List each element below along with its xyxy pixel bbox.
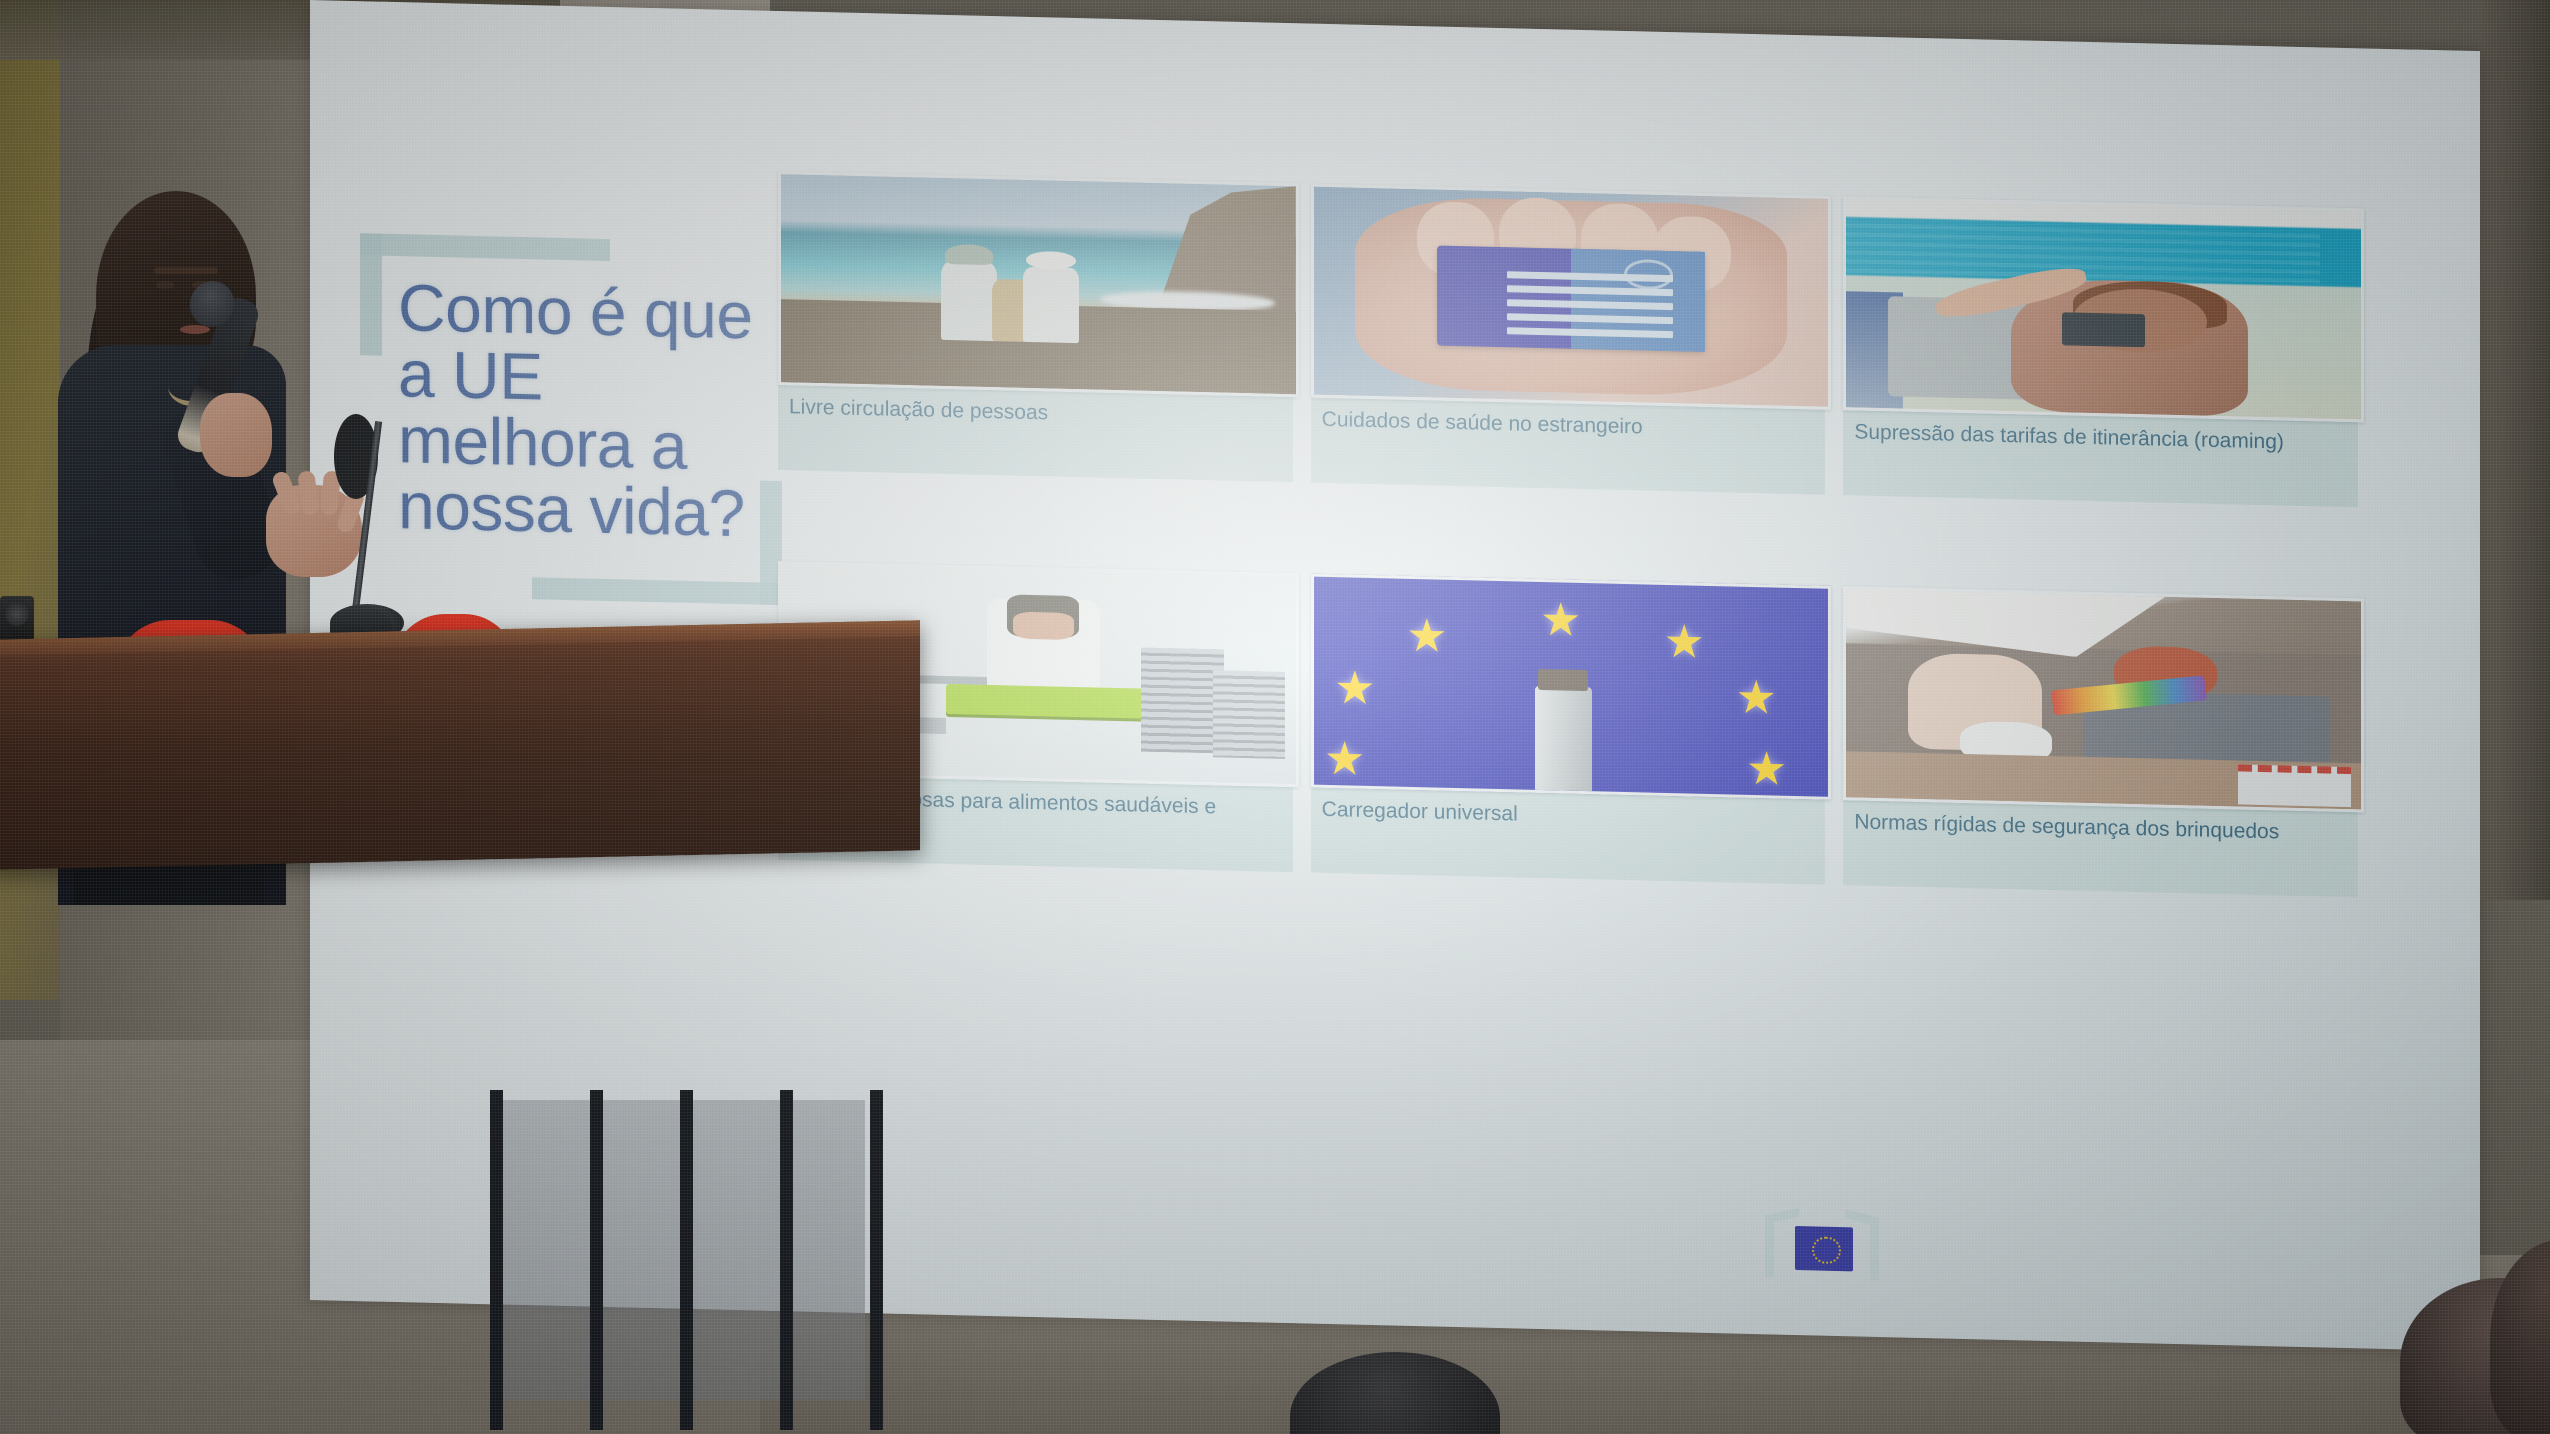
beach-couple-photo	[778, 171, 1299, 397]
european-union-flag-logo	[1765, 1209, 1885, 1290]
loudspeaker-unit	[0, 596, 34, 644]
slide-bracket-top-left-vertical	[360, 233, 382, 356]
benefit-caption: Normas rígidas de segurança dos brinqued…	[1843, 800, 2358, 897]
benefits-grid: Livre circulação de pessoas Cuidados de …	[778, 171, 2358, 968]
slide-title: Como é que a UE melhora a nossa vida?	[398, 274, 818, 548]
benefit-caption: Livre circulação de pessoas	[778, 385, 1293, 482]
european-health-insurance-card-photo	[1311, 184, 1832, 410]
wooden-presentation-table	[0, 620, 920, 870]
table-legs	[480, 1090, 900, 1430]
room-wall-far-right	[2480, 0, 2550, 900]
photograph-canvas: Como é que a UE melhora a nossa vida? Li…	[0, 0, 2550, 1434]
benefit-caption: Cuidados de saúde no estrangeiro	[1311, 398, 1826, 495]
benefit-card-healthcare-abroad: Cuidados de saúde no estrangeiro	[1311, 184, 1826, 566]
benefit-card-roaming: Supressão das tarifas de itinerância (ro…	[1843, 196, 2358, 578]
benefit-caption: Carregador universal	[1311, 788, 1826, 885]
usb-c-charger-eu-flag-photo	[1311, 574, 1832, 800]
slide-bracket-bottom-right-horizontal	[532, 577, 782, 605]
benefit-caption: Supressão das tarifas de itinerância (ro…	[1843, 410, 2358, 507]
benefit-card-universal-charger: Carregador universal	[1311, 574, 1826, 956]
benefit-card-free-movement: Livre circulação de pessoas	[778, 171, 1293, 553]
slide-bracket-top-left-horizontal	[360, 233, 610, 261]
benefit-card-toy-safety: Normas rígidas de segurança dos brinqued…	[1843, 586, 2358, 968]
poolside-phone-photo	[1843, 196, 2364, 422]
presenter-hand-holding-microphone	[200, 393, 272, 477]
child-with-toys-photo	[1843, 586, 2364, 812]
